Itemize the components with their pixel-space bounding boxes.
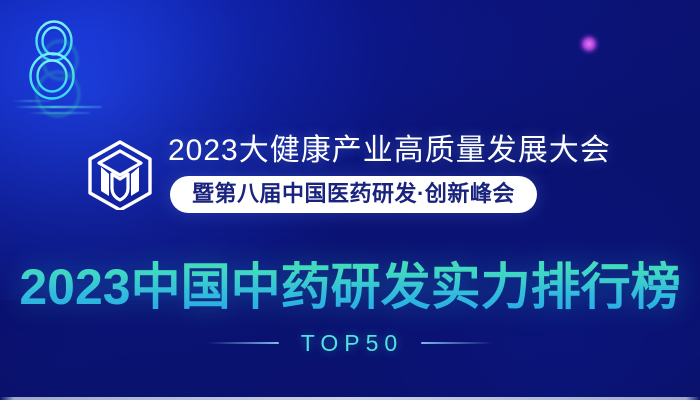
light-streak: [28, 112, 90, 114]
ranking-headline: 2023中国中药研发实力排行榜: [0, 256, 700, 318]
divider-line-left: [207, 342, 279, 344]
conference-subtitle-pill: 暨第八届中国医药研发·创新峰会: [170, 176, 537, 213]
light-streak: [12, 100, 52, 102]
divider-line-right: [421, 342, 493, 344]
poster-banner: 2023大健康产业高质量发展大会 暨第八届中国医药研发·创新峰会 2023中国中…: [0, 0, 700, 400]
header-block: 2023大健康产业高质量发展大会 暨第八届中国医药研发·创新峰会: [84, 130, 624, 216]
edition-number-eight-icon: [12, 14, 122, 124]
light-streak: [14, 106, 102, 108]
ranking-label-row: TOP50: [0, 330, 700, 356]
conference-title: 2023大健康产业高质量发展大会: [168, 130, 611, 172]
ranking-label: TOP50: [297, 330, 403, 356]
edition-number-eight-ghost-icon: [26, 34, 98, 120]
hexagon-cube-m-logo-icon: [84, 138, 156, 210]
purple-glow-spark-icon: [578, 33, 600, 55]
